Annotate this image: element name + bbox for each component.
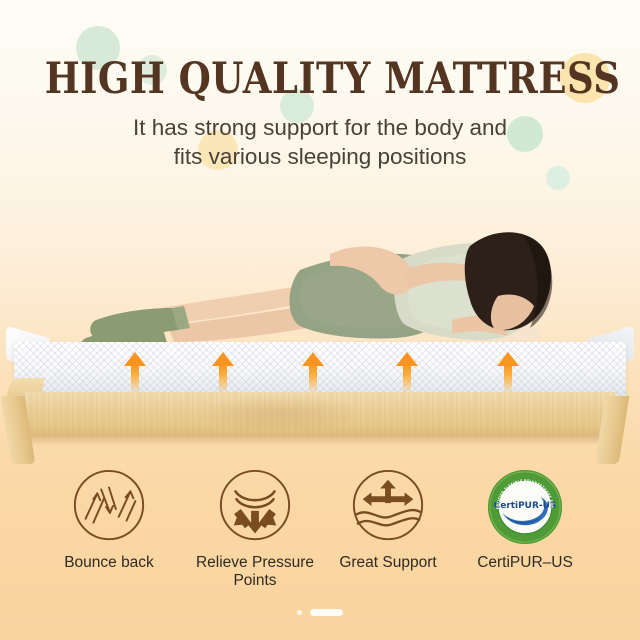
arrow-head-icon — [212, 352, 234, 366]
page-title: HIGH QUALITY MATTRESS — [45, 0, 595, 104]
support-arrow-3 — [302, 352, 324, 392]
arrow-head-icon — [124, 352, 146, 366]
arrow-shaft — [403, 364, 411, 392]
page-indicator-dot[interactable] — [297, 610, 302, 615]
support-arrow-1 — [124, 352, 146, 392]
bed-frame-rail — [24, 392, 616, 436]
banner-subtitle: It has strong support for the body and f… — [0, 104, 640, 171]
badge-center-text: CertiPUR-US — [494, 501, 557, 511]
feature-label: Great Support — [313, 554, 463, 572]
feature-label: Bounce back — [34, 554, 184, 572]
certipur-us-badge-icon: CertiPUR-US CERTIFIED FLEXIBLE POLYURETH… — [486, 468, 564, 546]
bounce-back-icon — [70, 468, 148, 546]
arrow-shaft — [504, 364, 512, 392]
great-support-icon — [349, 468, 427, 546]
feature-bounce-back: Bounce back — [34, 468, 184, 572]
feature-list: Bounce back Relieve Pressure Points — [0, 468, 640, 598]
arrow-head-icon — [396, 352, 418, 366]
feature-relieve-pressure: Relieve Pressure Points — [180, 468, 330, 590]
arrow-shaft — [131, 364, 139, 392]
arrow-shaft — [309, 364, 317, 392]
feature-great-support: Great Support — [313, 468, 463, 572]
feature-label: CertiPUR–US — [450, 554, 600, 572]
banner-header: HIGH QUALITY MATTRESS It has strong supp… — [0, 0, 640, 171]
page-indicator[interactable] — [0, 604, 640, 622]
arrow-head-icon — [497, 352, 519, 366]
page-indicator-active[interactable] — [310, 609, 343, 616]
support-arrow-2 — [212, 352, 234, 392]
support-arrow-4 — [396, 352, 418, 392]
arrow-shaft — [219, 364, 227, 392]
subtitle-line-2: fits various sleeping positions — [0, 142, 640, 171]
product-banner-image: HIGH QUALITY MATTRESS It has strong supp… — [0, 0, 640, 640]
subtitle-line-1: It has strong support for the body and — [0, 113, 640, 142]
feature-label: Relieve Pressure Points — [180, 554, 330, 590]
support-arrow-5 — [497, 352, 519, 392]
arrow-head-icon — [302, 352, 324, 366]
feature-certipur-us: CertiPUR-US CERTIFIED FLEXIBLE POLYURETH… — [450, 468, 600, 572]
relieve-pressure-icon — [216, 468, 294, 546]
mattress-scene — [0, 200, 640, 470]
bed-frame-shadow — [24, 436, 616, 446]
